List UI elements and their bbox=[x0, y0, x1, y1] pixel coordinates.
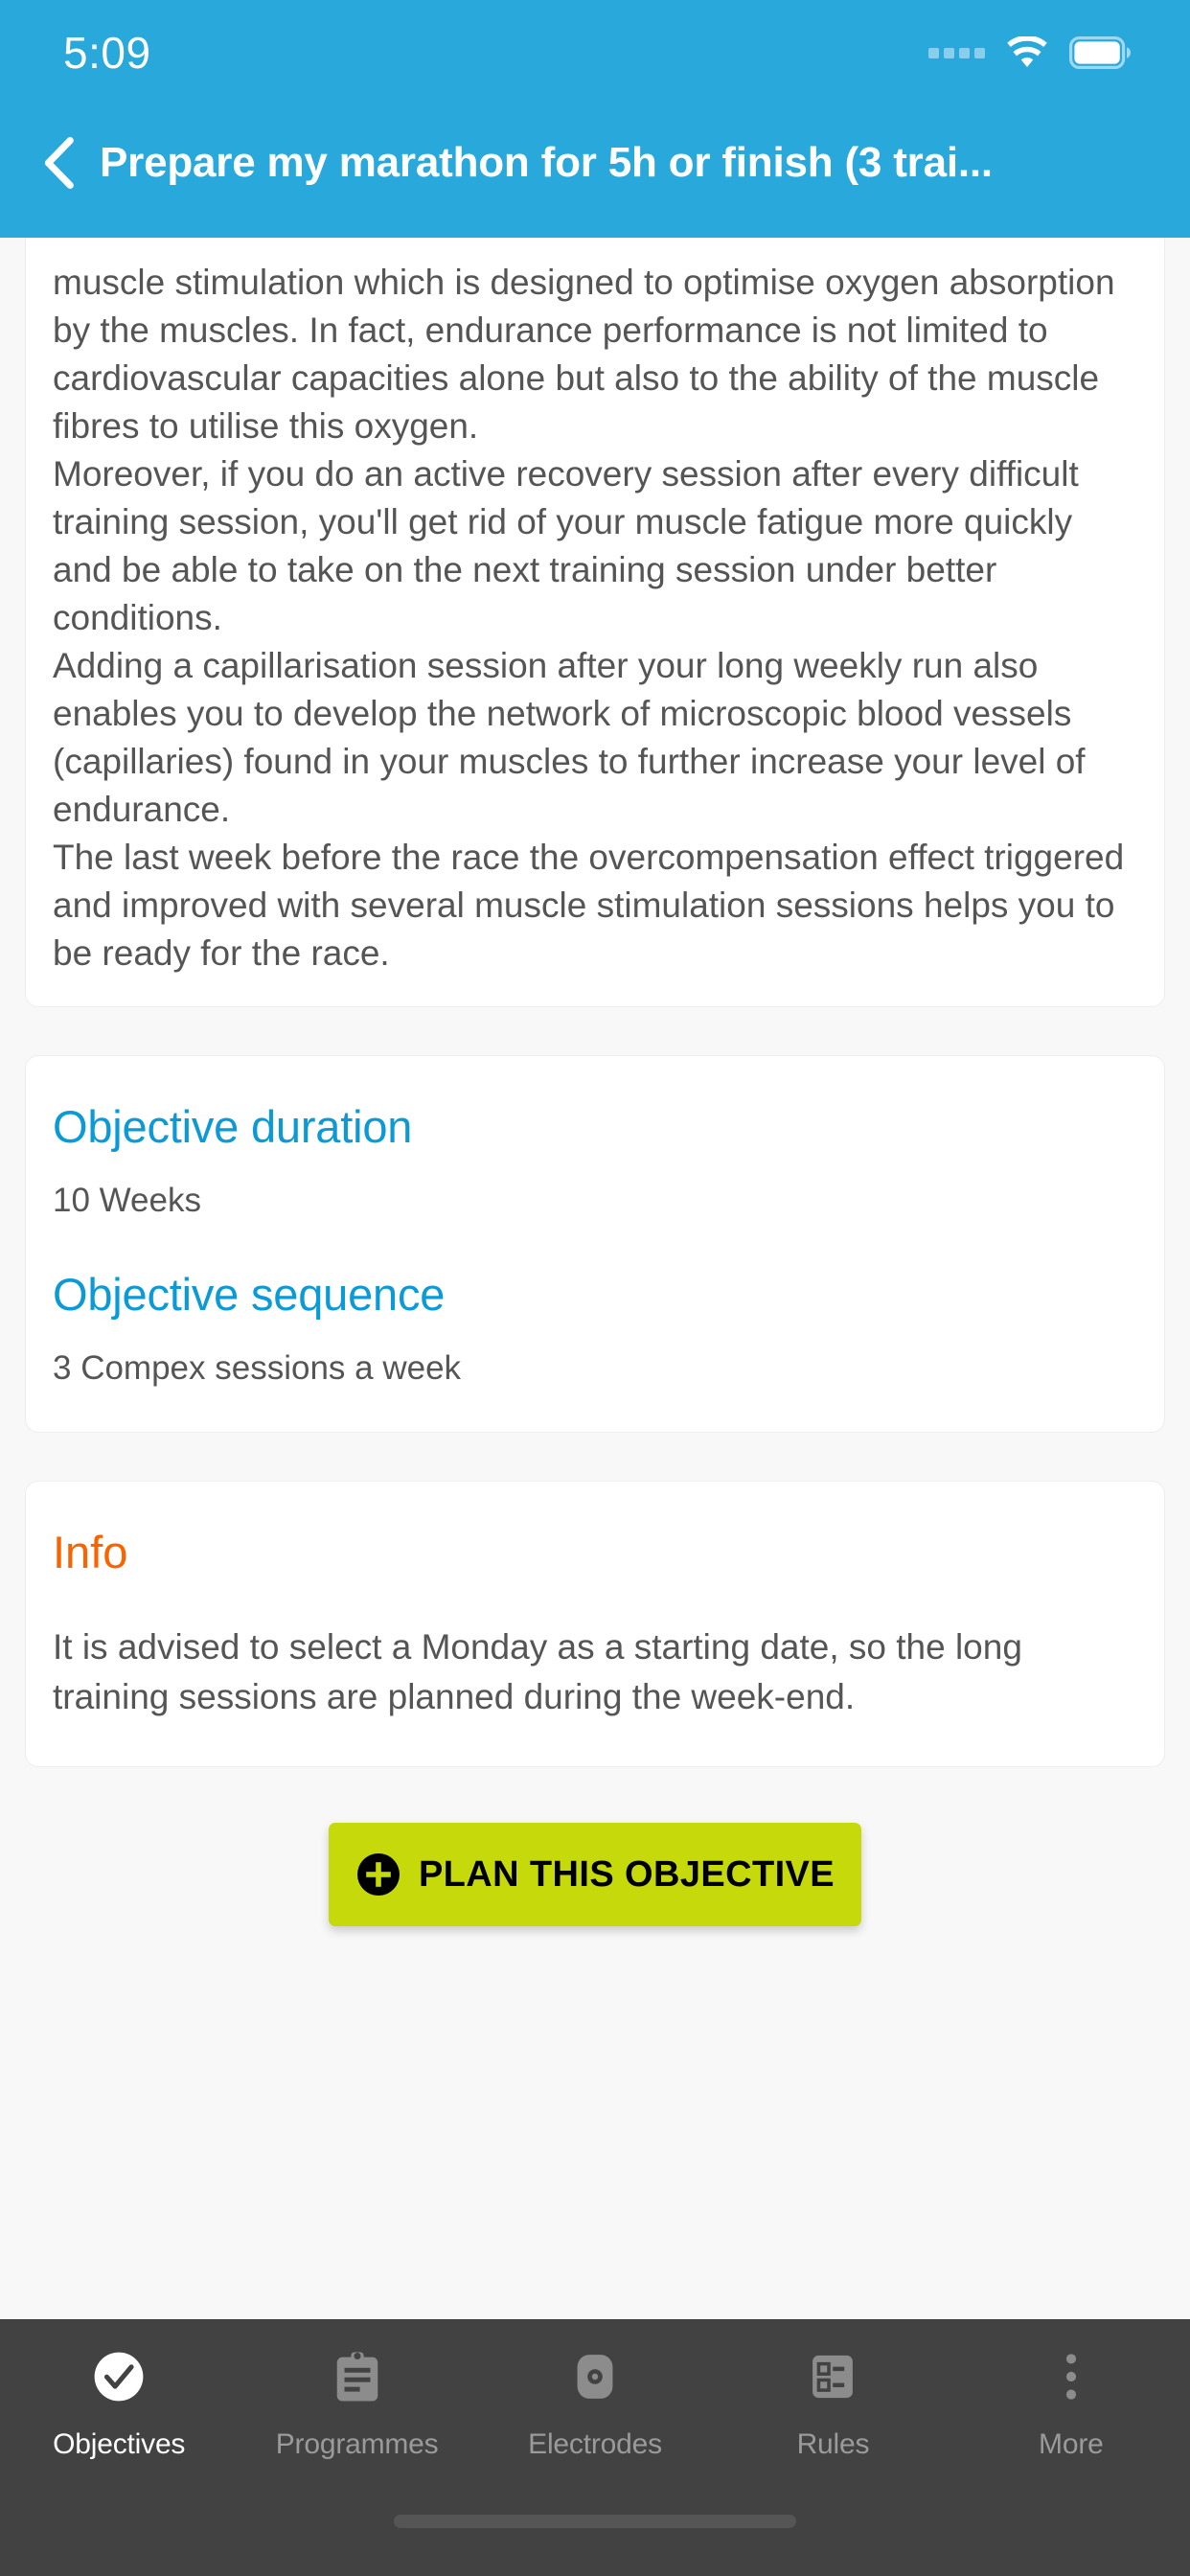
objective-duration-title: Objective duration bbox=[53, 1100, 1137, 1153]
spacer bbox=[0, 1433, 1190, 1481]
checklist-icon bbox=[802, 2346, 863, 2407]
cta-container: PLAN THIS OBJECTIVE bbox=[0, 1767, 1190, 1926]
nav-bar: Prepare my marathon for 5h or finish (3 … bbox=[0, 105, 1190, 238]
page-title: Prepare my marathon for 5h or finish (3 … bbox=[100, 139, 993, 187]
tab-label-objectives: Objectives bbox=[53, 2428, 185, 2461]
info-title: Info bbox=[53, 1526, 1137, 1578]
electrode-pad-icon bbox=[564, 2346, 626, 2407]
tab-programmes[interactable]: Programmes bbox=[238, 2346, 475, 2509]
signal-dots-icon bbox=[928, 48, 985, 58]
status-bar-icons bbox=[928, 36, 1131, 69]
back-chevron-icon bbox=[42, 137, 75, 189]
description-text: muscle stimulation which is designed to … bbox=[26, 238, 1164, 1006]
tab-objectives[interactable]: Objectives bbox=[0, 2346, 238, 2509]
cta-label: PLAN THIS OBJECTIVE bbox=[419, 1854, 835, 1896]
check-circle-icon bbox=[88, 2346, 149, 2407]
tab-label-programmes: Programmes bbox=[276, 2428, 439, 2461]
tab-label-more: More bbox=[1039, 2428, 1104, 2461]
objective-card: Objective duration 10 Weeks Objective se… bbox=[25, 1055, 1165, 1433]
bottom-tab-bar: Objectives Programmes bbox=[0, 2319, 1190, 2576]
home-indicator-area bbox=[0, 2509, 1190, 2576]
scroll-content[interactable]: muscle stimulation which is designed to … bbox=[0, 238, 1190, 2319]
battery-full-icon bbox=[1069, 36, 1131, 69]
clipboard-icon bbox=[327, 2346, 388, 2407]
spacer bbox=[0, 1007, 1190, 1055]
objective-sequence-value: 3 Compex sessions a week bbox=[53, 1349, 1137, 1388]
tab-more[interactable]: More bbox=[952, 2346, 1190, 2509]
back-button[interactable] bbox=[25, 129, 92, 196]
tab-label-rules: Rules bbox=[797, 2428, 870, 2461]
tab-label-electrodes: Electrodes bbox=[528, 2428, 662, 2461]
wifi-icon bbox=[1006, 36, 1048, 69]
app-header: 5:09 bbox=[0, 0, 1190, 238]
plan-this-objective-button[interactable]: PLAN THIS OBJECTIVE bbox=[329, 1823, 861, 1926]
info-text: It is advised to select a Monday as a st… bbox=[53, 1622, 1137, 1722]
status-bar-time: 5:09 bbox=[63, 27, 151, 79]
tab-rules[interactable]: Rules bbox=[714, 2346, 951, 2509]
status-bar: 5:09 bbox=[0, 0, 1190, 105]
more-dots-icon bbox=[1041, 2346, 1102, 2407]
description-card: muscle stimulation which is designed to … bbox=[25, 238, 1165, 1007]
home-indicator[interactable] bbox=[394, 2515, 796, 2528]
plus-circle-icon bbox=[355, 1851, 401, 1897]
objective-duration-value: 10 Weeks bbox=[53, 1182, 1137, 1220]
tab-electrodes[interactable]: Electrodes bbox=[476, 2346, 714, 2509]
objective-sequence-title: Objective sequence bbox=[53, 1268, 1137, 1321]
info-card: Info It is advised to select a Monday as… bbox=[25, 1481, 1165, 1767]
app-screen: 5:09 bbox=[0, 0, 1190, 2576]
